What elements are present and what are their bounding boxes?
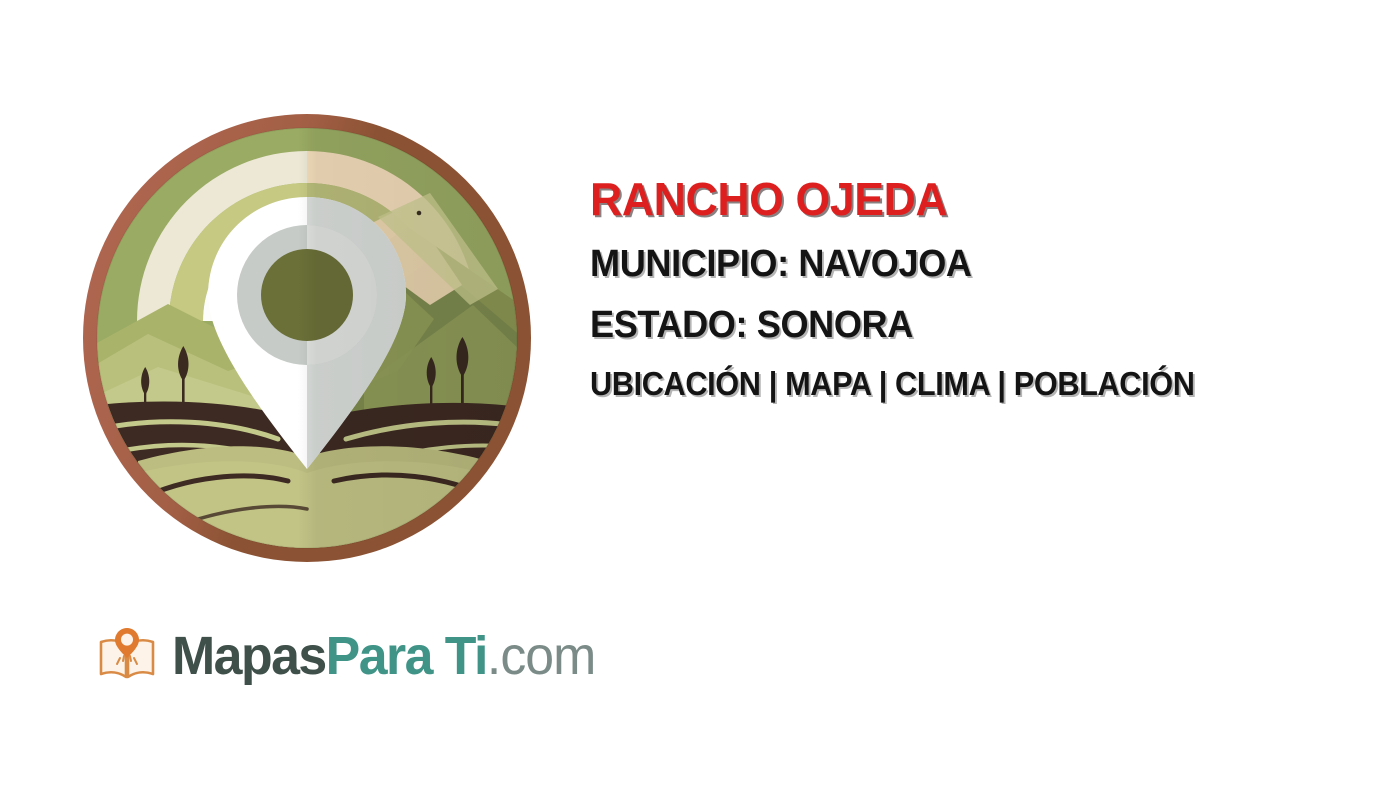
brand-wordmark: MapasPara Ti.com [172, 629, 595, 683]
open-book-with-map-pin-icon [96, 625, 158, 687]
brand-part-dotcom: .com [487, 626, 596, 686]
brand-part-parati: Para Ti [326, 626, 487, 686]
place-info-block: RANCHO OJEDA MUNICIPIO: NAVOJOA ESTADO: … [590, 176, 1380, 400]
municipio-line: MUNICIPIO: NAVOJOA [590, 245, 1341, 283]
estado-line: ESTADO: SONORA [590, 306, 1341, 344]
location-emblem [78, 109, 536, 567]
rural-landscape-map-pin-badge-icon [78, 109, 536, 567]
page-title: RANCHO OJEDA [590, 176, 1356, 222]
brand-logo[interactable]: MapasPara Ti.com [96, 616, 613, 696]
page-root: RANCHO OJEDA MUNICIPIO: NAVOJOA ESTADO: … [0, 0, 1400, 786]
brand-part-mapas: Mapas [172, 626, 326, 686]
section-links-line[interactable]: UBICACIÓN | MAPA | CLIMA | POBLACIÓN [590, 367, 1325, 400]
